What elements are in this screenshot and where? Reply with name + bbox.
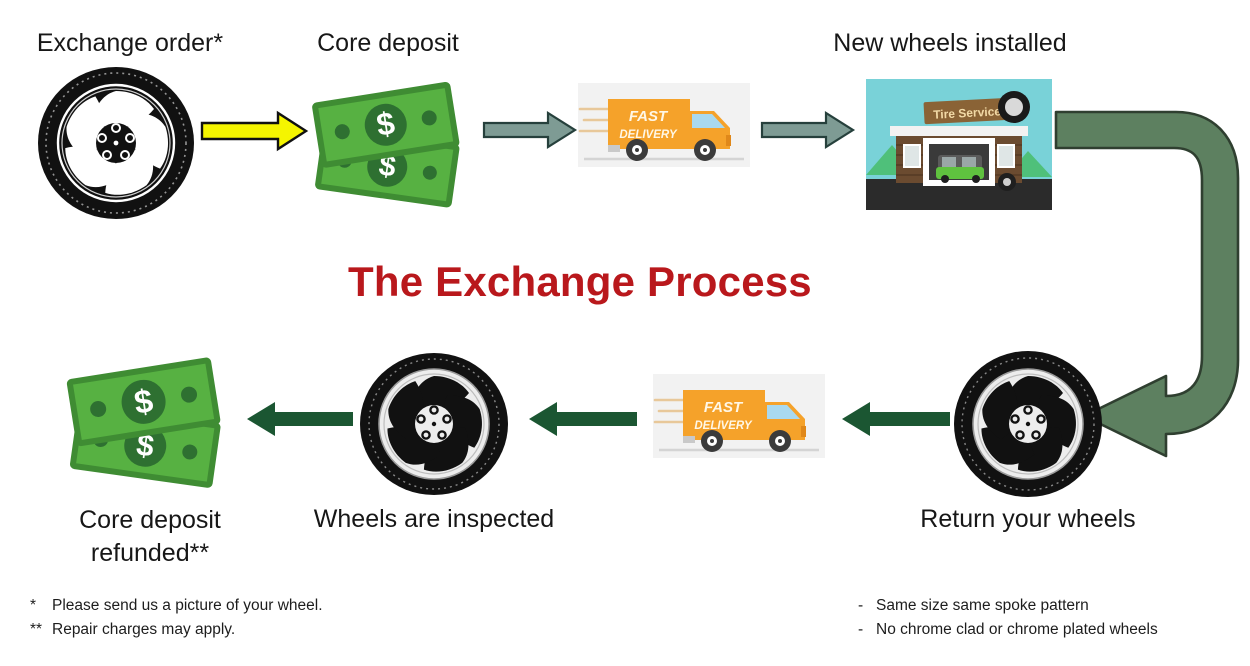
label-wheels-are-inspected: Wheels are inspected — [306, 504, 562, 535]
tire-service-garage-icon: Tire Service — [866, 79, 1052, 210]
label-core-deposit-refunded-line1: Core deposit — [79, 506, 221, 534]
note-right-2: -No chrome clad or chrome plated wheels — [858, 618, 1158, 642]
note-right-1-marker: - — [858, 594, 876, 618]
arrow-6-left — [527, 400, 639, 438]
label-return-your-wheels: Return your wheels — [900, 504, 1156, 535]
exchange-process-diagram: Exchange order* Core deposit New wheels … — [0, 0, 1250, 666]
note-right-1: -Same size same spoke pattern — [858, 594, 1158, 618]
note-right-2-text: No chrome clad or chrome plated wheels — [876, 621, 1158, 638]
delivery-truck-icon-top: FAST DELIVERY — [578, 83, 750, 167]
wheel-dark-icon — [36, 66, 196, 221]
label-core-deposit: Core deposit — [268, 28, 508, 59]
money-icon-top: $ $ — [303, 76, 479, 204]
arrow-7-left — [245, 400, 355, 438]
truck-text-fast-bottom: FAST — [704, 399, 744, 416]
label-exchange-order: Exchange order* — [0, 28, 260, 59]
label-core-deposit-refunded-line2: refunded** — [91, 539, 209, 567]
label-core-deposit-refunded: Core deposit refunded** — [22, 504, 278, 569]
label-new-wheels-installed: New wheels installed — [800, 28, 1100, 59]
note-left-1: *Please send us a picture of your wheel. — [30, 594, 323, 618]
notes-left: *Please send us a picture of your wheel.… — [30, 594, 323, 642]
note-left-2-text: Repair charges may apply. — [52, 621, 235, 638]
note-left-2: **Repair charges may apply. — [30, 618, 323, 642]
note-right-2-marker: - — [858, 618, 876, 642]
wheel-light-icon-inspected — [358, 352, 510, 496]
note-left-1-marker: * — [30, 594, 52, 618]
arrow-2-right — [482, 110, 578, 150]
note-left-2-marker: ** — [30, 618, 52, 642]
note-right-1-text: Same size same spoke pattern — [876, 597, 1089, 614]
money-icon-bottom: $ $ — [58, 352, 240, 486]
arrow-1-right — [200, 110, 310, 152]
notes-right: -Same size same spoke pattern -No chrome… — [858, 594, 1158, 642]
arrow-5-left — [840, 400, 952, 438]
page-title: The Exchange Process — [348, 258, 812, 306]
truck-text-fast: FAST — [629, 108, 669, 125]
note-left-1-text: Please send us a picture of your wheel. — [52, 597, 323, 614]
truck-text-delivery: DELIVERY — [619, 129, 678, 141]
truck-text-delivery-bottom: DELIVERY — [694, 420, 753, 432]
wheel-light-icon-return — [952, 350, 1104, 498]
arrow-3-right — [760, 110, 856, 150]
delivery-truck-icon-bottom: FAST DELIVERY — [653, 374, 825, 458]
